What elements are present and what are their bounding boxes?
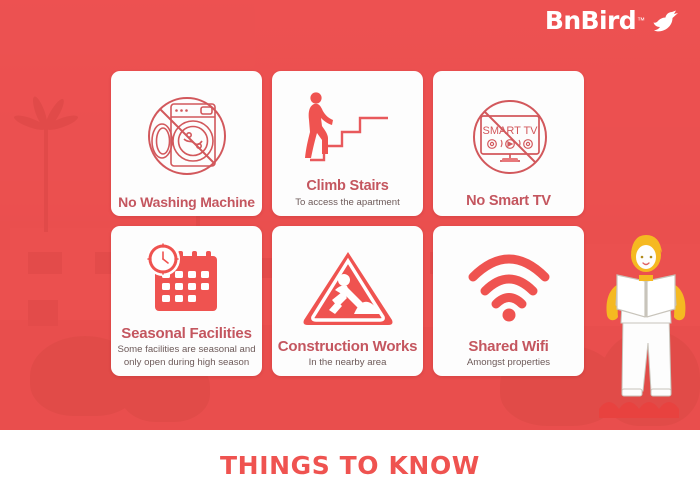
bottom-banner: THINGS TO KNOW	[0, 430, 700, 500]
card-title: No Smart TV	[466, 193, 551, 210]
seasonal-facilities-icon	[117, 236, 256, 325]
infographic-root: BnBird™	[0, 0, 700, 500]
brand-name-text: BnBird	[545, 6, 636, 35]
no-washing-machine-icon	[117, 79, 256, 194]
card-title: Climb Stairs	[306, 178, 388, 195]
banner-title: THINGS TO KNOW	[220, 451, 480, 480]
card-subtitle: Amongst properties	[467, 357, 550, 370]
card-subtitle: Some facilities are seasonal and only op…	[117, 344, 256, 370]
person-reading-book-illustration	[593, 223, 698, 418]
climb-stairs-icon	[278, 79, 417, 178]
card-seasonal-facilities[interactable]: Seasonal Facilities Some facilities are …	[111, 226, 262, 376]
hero-section: BnBird™	[0, 0, 700, 430]
brand-name: BnBird™	[545, 8, 645, 34]
card-title: Seasonal Facilities	[121, 325, 251, 342]
card-climb-stairs[interactable]: Climb Stairs To access the apartment	[272, 71, 423, 216]
no-smart-tv-icon: SMART TV	[439, 79, 578, 193]
card-title: No Washing Machine	[118, 194, 255, 210]
card-construction-works[interactable]: Construction Works In the nearby area	[272, 226, 423, 376]
card-title: Construction Works	[278, 338, 417, 355]
tv-screen-label: SMART TV	[482, 125, 538, 137]
card-no-washing-machine[interactable]: No Washing Machine	[111, 71, 262, 216]
card-title: Shared Wifi	[468, 338, 548, 355]
cards-grid: No Washing Machine Climb Stairs	[111, 71, 584, 376]
card-subtitle: In the nearby area	[309, 357, 387, 370]
card-no-smart-tv[interactable]: SMART TV No Sma	[433, 71, 584, 216]
shared-wifi-icon	[439, 236, 578, 338]
card-subtitle: To access the apartment	[295, 197, 400, 210]
bird-icon	[652, 10, 682, 32]
trademark-symbol: ™	[637, 16, 645, 25]
brand-logo[interactable]: BnBird™	[545, 8, 682, 34]
card-shared-wifi[interactable]: Shared Wifi Amongst properties	[433, 226, 584, 376]
construction-works-icon	[278, 236, 417, 338]
